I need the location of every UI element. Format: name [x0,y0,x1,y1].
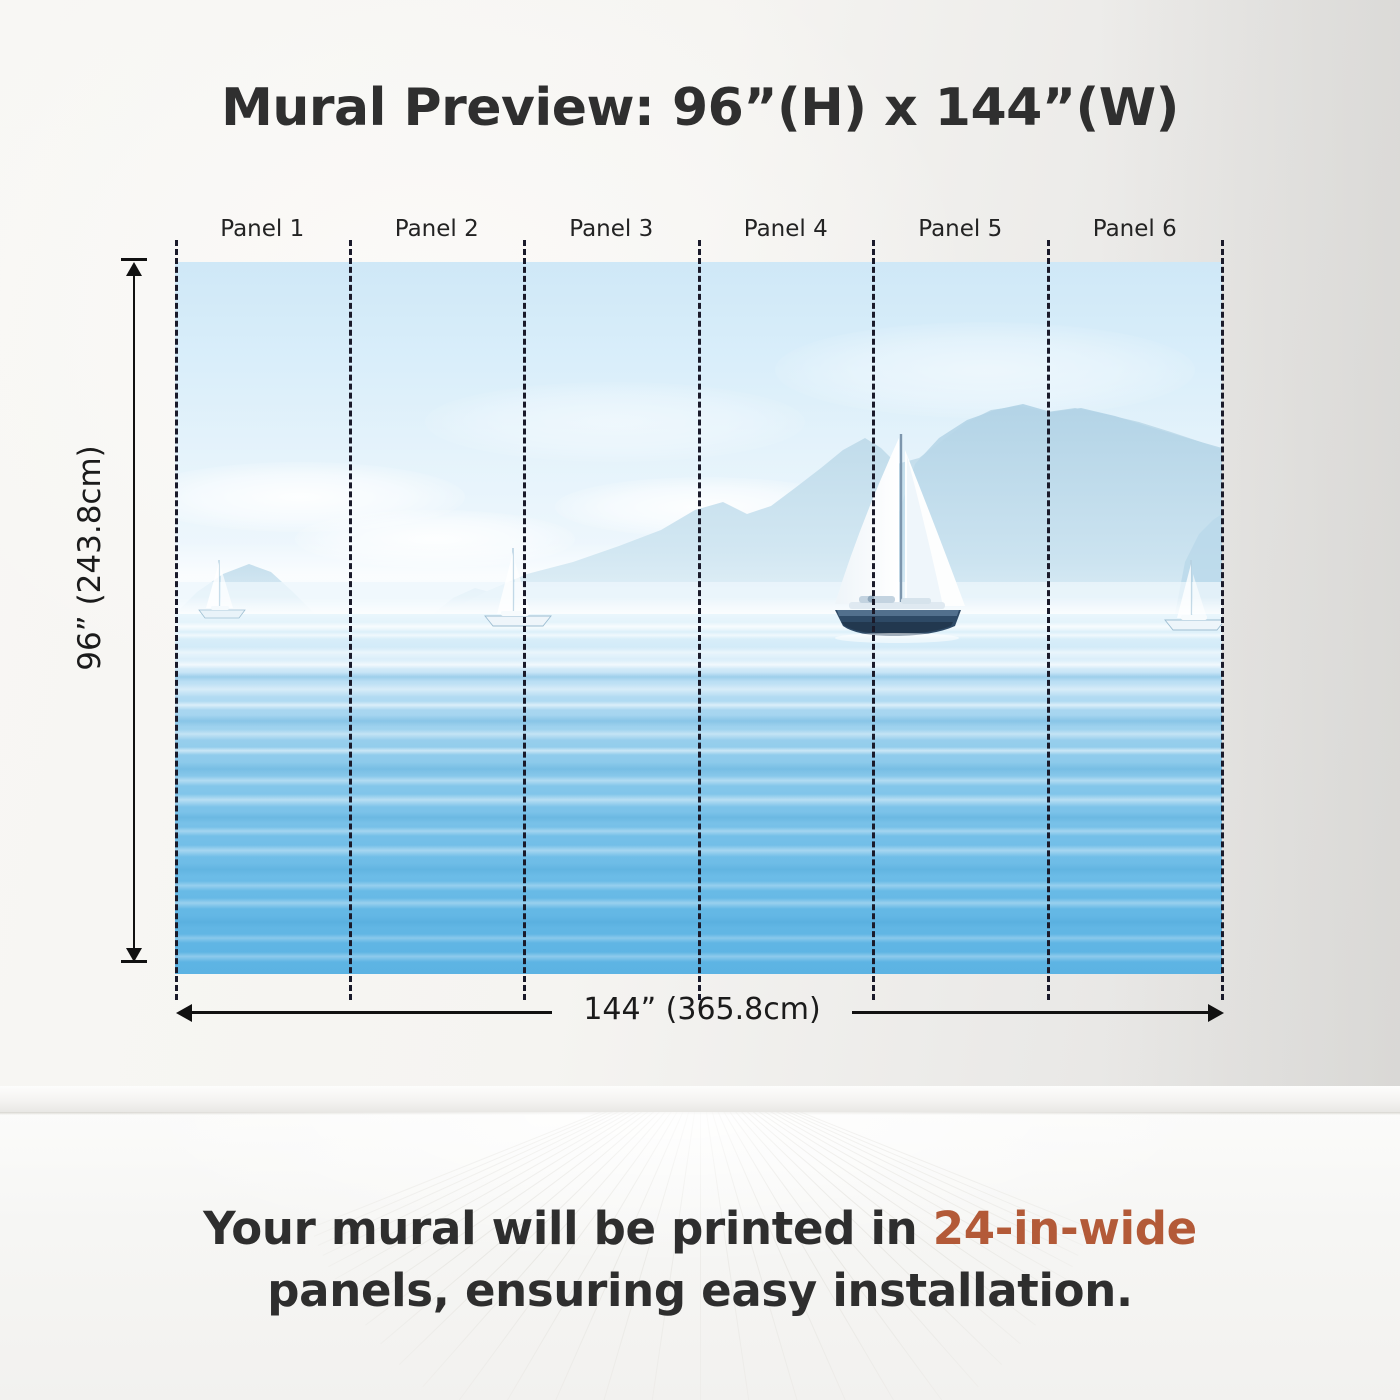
panel-label-3: Panel 3 [524,214,699,252]
width-dimension-line-left [186,1011,552,1014]
caption-line1-before: Your mural will be printed in [203,1202,933,1255]
height-dimension-line [133,272,135,962]
panel-divider-1 [349,240,352,1000]
panel-divider-left-edge [175,240,178,1000]
panel-label-1: Panel 1 [175,214,350,252]
panel-label-6: Panel 6 [1048,214,1223,252]
baseboard [0,1086,1400,1112]
height-dimension-label: 96” (243.8cm) [72,398,108,718]
caption: Your mural will be printed in 24-in-wide… [0,1198,1400,1322]
mural-preview-page: Mural Preview: 96”(H) x 144”(W) Panel 1 … [0,0,1400,1400]
caption-accent: 24-in-wide [933,1202,1197,1255]
sailboat-distant-mid [475,544,563,636]
sailboat-distant-left [193,554,255,626]
panel-label-5: Panel 5 [873,214,1048,252]
panel-divider-right-edge [1221,240,1224,1000]
width-dimension-label: 144” (365.8cm) [552,992,852,1027]
panel-divider-3 [698,240,701,1000]
panel-divider-4 [872,240,875,1000]
width-arrow-right [1208,1004,1224,1022]
sailboat-main [815,426,975,646]
height-tick-top [121,258,147,261]
caption-line2: panels, ensuring easy installation. [267,1264,1133,1317]
panel-label-2: Panel 2 [350,214,525,252]
panel-divider-2 [523,240,526,1000]
panel-label-4: Panel 4 [699,214,874,252]
page-title: Mural Preview: 96”(H) x 144”(W) [0,78,1400,138]
sailboat-distant-right [1155,554,1222,642]
width-dimension-line-right [852,1011,1212,1014]
panel-divider-5 [1047,240,1050,1000]
height-tick-bottom [121,960,147,963]
